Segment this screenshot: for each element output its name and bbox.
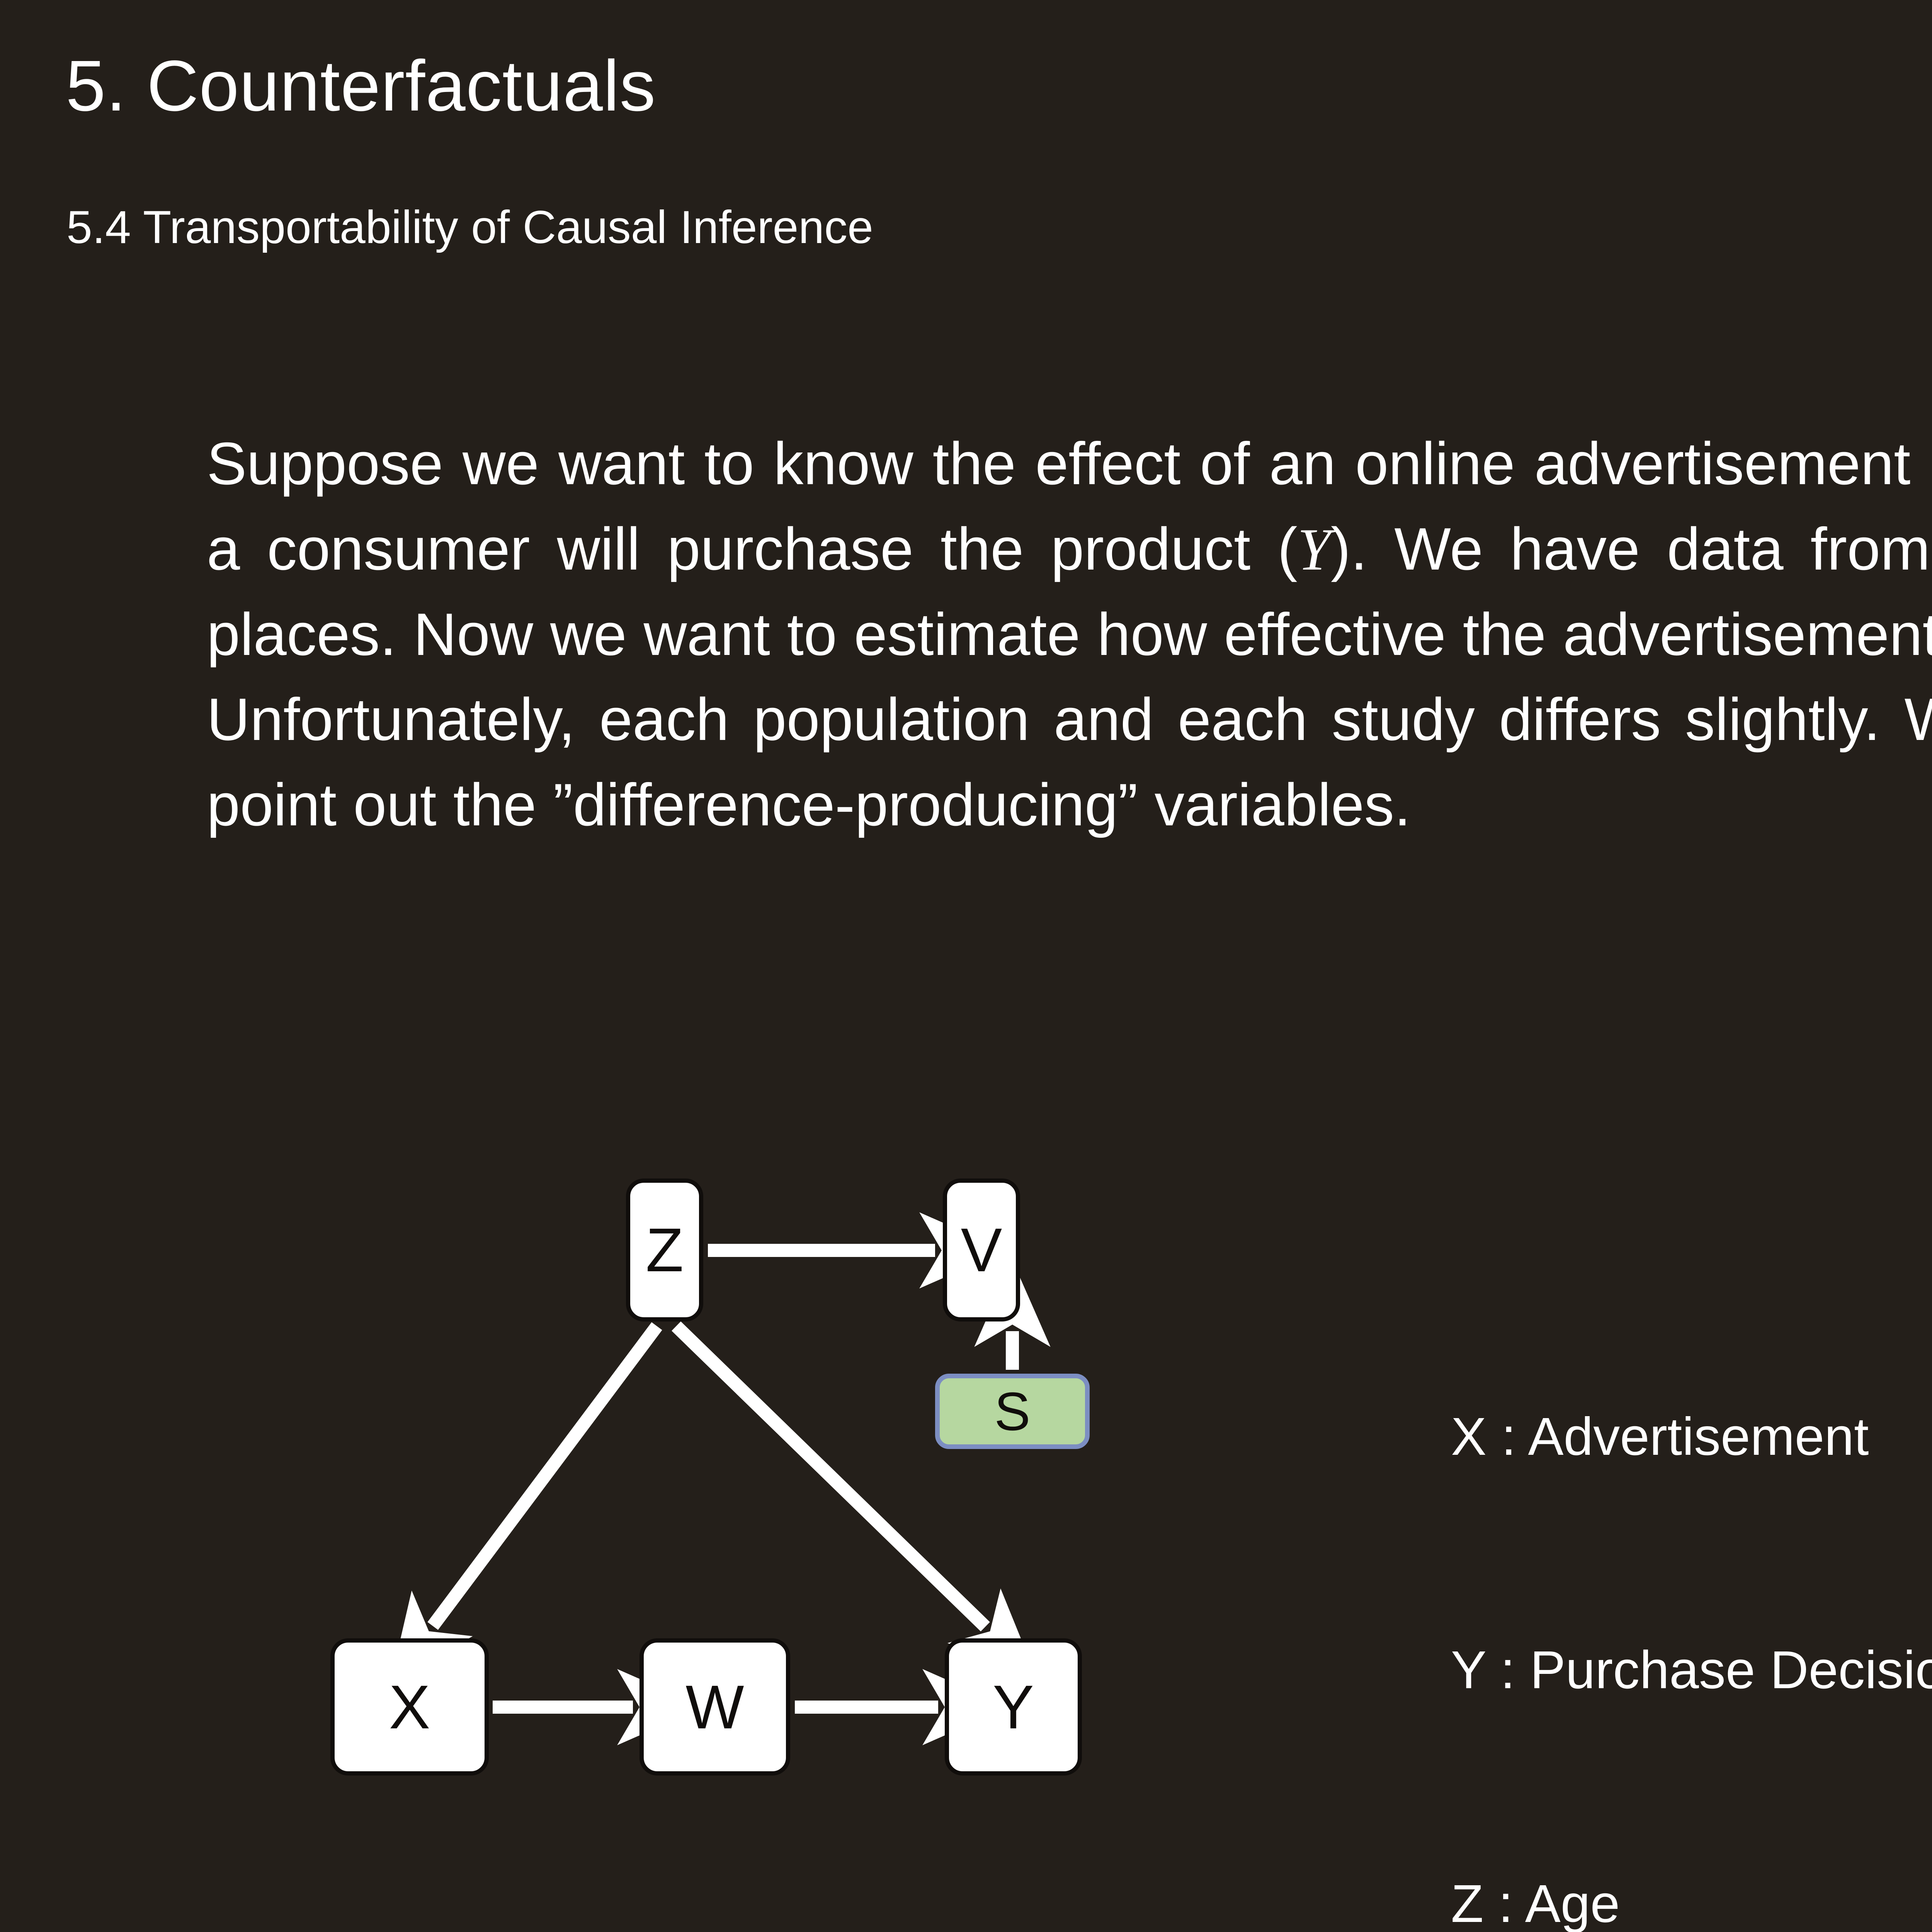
body-paragraph: Suppose we want to know the effect of an… — [207, 421, 1932, 847]
legend-row-x: X : Advertisement — [1451, 1398, 1932, 1476]
body-text-run: Suppose we want to know the effect of an… — [207, 430, 1932, 497]
dag-node-z[interactable]: Z — [626, 1179, 703, 1321]
legend-row-y: Y : Purchase Decision — [1451, 1631, 1932, 1709]
section-subtitle: 5.4 Transportability of Causal Inference — [66, 204, 873, 250]
dag-node-s[interactable]: S — [935, 1374, 1090, 1449]
edge-z-to-y — [676, 1326, 985, 1627]
dag-node-v[interactable]: V — [943, 1179, 1020, 1321]
dag-node-x[interactable]: X — [330, 1638, 489, 1776]
dag-node-y[interactable]: Y — [945, 1638, 1082, 1776]
edge-z-to-x — [433, 1326, 657, 1626]
dag-node-w[interactable]: W — [639, 1638, 790, 1776]
legend-row-z: Z : Age — [1451, 1865, 1932, 1932]
variable-legend: X : Advertisement Y : Purchase Decision … — [1451, 1242, 1932, 1932]
math-variable: Y — [1298, 516, 1331, 583]
causal-dag-figure: Z V S X W Y — [317, 1175, 1128, 1801]
page-title: 5. Counterfactuals — [66, 50, 656, 122]
